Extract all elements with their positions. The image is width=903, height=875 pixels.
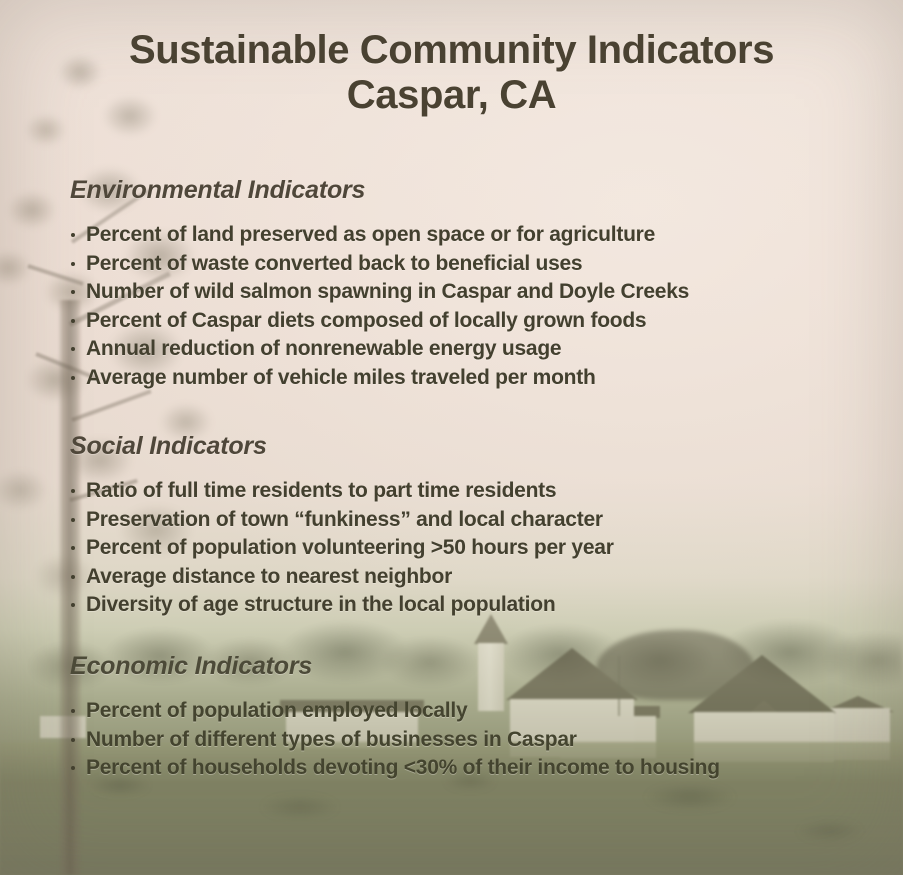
slide-content: Sustainable Community Indicators Caspar,… <box>0 0 903 875</box>
bullet-dot-icon <box>71 347 75 351</box>
bullet-dot-icon <box>71 319 75 323</box>
list-item-label: Percent of Caspar diets composed of loca… <box>86 309 646 332</box>
list-item: Percent of waste converted back to benef… <box>70 250 689 279</box>
list-item: Average number of vehicle miles traveled… <box>70 364 689 393</box>
bullet-dot-icon <box>71 489 75 493</box>
bullet-dot-icon <box>71 738 75 742</box>
list-item-label: Diversity of age structure in the local … <box>86 593 555 616</box>
bullet-dot-icon <box>71 766 75 770</box>
list-item-label: Number of wild salmon spawning in Caspar… <box>86 280 689 303</box>
section-environmental-indicators: Environmental Indicators Percent of land… <box>70 176 689 392</box>
section-heading-environmental: Environmental Indicators <box>70 176 689 205</box>
list-item: Percent of households devoting <30% of t… <box>70 754 720 783</box>
bullet-dot-icon <box>71 709 75 713</box>
list-item: Percent of Caspar diets composed of loca… <box>70 307 689 336</box>
list-item-label: Average distance to nearest neighbor <box>86 565 452 588</box>
bullet-dot-icon <box>71 233 75 237</box>
list-item: Number of wild salmon spawning in Caspar… <box>70 278 689 307</box>
list-item: Annual reduction of nonrenewable energy … <box>70 335 689 364</box>
list-item: Percent of population employed locally <box>70 697 720 726</box>
bullet-dot-icon <box>71 518 75 522</box>
list-item-label: Percent of households devoting <30% of t… <box>86 756 720 779</box>
bullet-dot-icon <box>71 546 75 550</box>
bullet-list-social: Ratio of full time residents to part tim… <box>70 477 614 620</box>
list-item: Number of different types of businesses … <box>70 726 720 755</box>
bullet-dot-icon <box>71 376 75 380</box>
list-item: Ratio of full time residents to part tim… <box>70 477 614 506</box>
list-item-label: Preservation of town “funkiness” and loc… <box>86 508 603 531</box>
list-item-label: Percent of waste converted back to benef… <box>86 252 582 275</box>
bullet-list-environmental: Percent of land preserved as open space … <box>70 221 689 392</box>
list-item-label: Percent of population employed locally <box>86 699 467 722</box>
bullet-dot-icon <box>71 603 75 607</box>
list-item-label: Number of different types of businesses … <box>86 728 577 751</box>
list-item-label: Percent of population volunteering >50 h… <box>86 536 614 559</box>
page-title: Sustainable Community Indicators Caspar,… <box>0 28 903 118</box>
list-item: Average distance to nearest neighbor <box>70 563 614 592</box>
title-line-primary: Sustainable Community Indicators <box>0 28 903 73</box>
list-item: Percent of land preserved as open space … <box>70 221 689 250</box>
bullet-dot-icon <box>71 290 75 294</box>
slide-root: Sustainable Community Indicators Caspar,… <box>0 0 903 875</box>
list-item-label: Ratio of full time residents to part tim… <box>86 479 556 502</box>
section-heading-social: Social Indicators <box>70 432 614 461</box>
section-heading-economic: Economic Indicators <box>70 652 720 681</box>
title-line-secondary: Caspar, CA <box>0 73 903 118</box>
section-social-indicators: Social Indicators Ratio of full time res… <box>70 432 614 620</box>
bullet-list-economic: Percent of population employed locally N… <box>70 697 720 783</box>
list-item-label: Average number of vehicle miles traveled… <box>86 366 596 389</box>
section-economic-indicators: Economic Indicators Percent of populatio… <box>70 652 720 783</box>
list-item-label: Annual reduction of nonrenewable energy … <box>86 337 561 360</box>
list-item: Preservation of town “funkiness” and loc… <box>70 506 614 535</box>
bullet-dot-icon <box>71 575 75 579</box>
list-item: Diversity of age structure in the local … <box>70 591 614 620</box>
list-item: Percent of population volunteering >50 h… <box>70 534 614 563</box>
bullet-dot-icon <box>71 262 75 266</box>
list-item-label: Percent of land preserved as open space … <box>86 223 655 246</box>
